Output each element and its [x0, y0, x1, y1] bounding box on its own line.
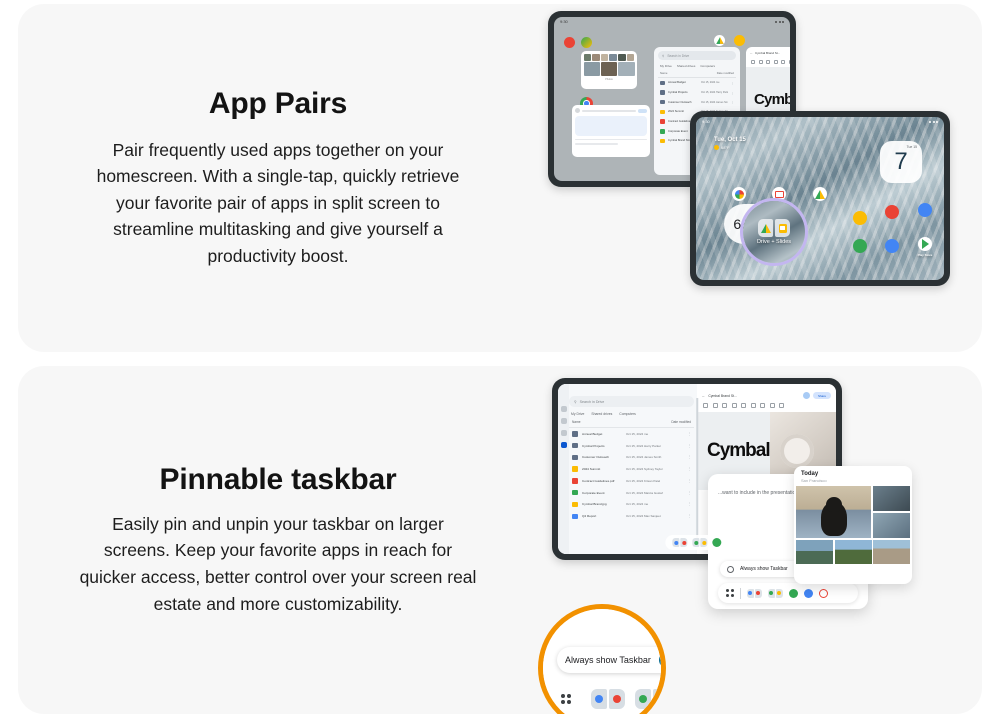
app-pairs-text-column: App Pairs Pair frequently used apps toge…	[18, 4, 538, 352]
file-name: Annual Budget	[668, 81, 698, 84]
table-row[interactable]: Annual BudgetOct 15, 2024 me⋮	[658, 78, 736, 88]
column-date-modified[interactable]: Date modified	[671, 420, 691, 424]
table-row[interactable]: Cymbal ProjectsOct 15, 2024 Harry Parker…	[658, 88, 736, 98]
sheets-icon[interactable]	[853, 239, 867, 253]
column-name[interactable]: Name	[660, 71, 667, 75]
file-date-modified: Oct 15, 2024 Harry Parker	[626, 444, 684, 448]
redo-icon[interactable]	[759, 60, 763, 64]
more-options-icon[interactable]: ⋮	[688, 514, 691, 518]
home-icon[interactable]	[561, 406, 567, 412]
undo-icon[interactable]	[703, 403, 708, 408]
file-type-icon	[660, 110, 665, 115]
file-date-modified: Oct 15, 2024 me	[701, 81, 728, 84]
drive-icon[interactable]	[713, 538, 722, 547]
taskbar-media: ⚲ Search in Drive My Drive Shared drives…	[538, 366, 982, 714]
chat-line	[575, 143, 618, 145]
drive-pane: ⚲ Search in Drive My Drive Shared drives…	[558, 384, 697, 554]
starred-icon[interactable]	[561, 418, 567, 424]
back-arrow-icon[interactable]: ←	[750, 51, 753, 55]
photo-thumbnail[interactable]	[835, 540, 872, 564]
file-name: Q4 Report	[582, 514, 622, 518]
drive-icon[interactable]	[714, 35, 725, 46]
drive-column-headers: Name Date modified	[569, 420, 694, 428]
document-format-tools	[697, 401, 836, 412]
search-icon: ⚲	[662, 54, 664, 58]
shared-icon[interactable]	[561, 430, 567, 436]
app-pair-tile[interactable]	[758, 219, 790, 237]
fold-hinge	[696, 398, 698, 541]
pair-half-slides[interactable]	[653, 689, 666, 709]
drive-search-input[interactable]: ⚲ Search in Drive	[658, 51, 736, 60]
link-icon[interactable]	[789, 60, 791, 64]
pair-half-docs[interactable]	[672, 538, 679, 547]
more-options-icon[interactable]: ⋮	[731, 91, 734, 95]
file-type-icon	[572, 443, 578, 448]
slide-brand-text: Cymbal	[707, 440, 770, 462]
app-pair-magnifier: Drive + Slides	[740, 198, 808, 266]
drive-icon[interactable]	[789, 589, 798, 598]
file-type-icon	[572, 431, 578, 436]
more-options-icon[interactable]: ⋮	[688, 491, 691, 495]
drive-search-input[interactable]: ⚲ Search in Drive	[569, 396, 694, 407]
all-apps-icon[interactable]	[561, 694, 571, 704]
share-button[interactable]: Share	[813, 392, 831, 399]
document-title[interactable]: Cymbal Brand St...	[708, 394, 800, 398]
tab-my-drive[interactable]: My Drive	[571, 412, 584, 416]
avatar	[803, 392, 810, 399]
file-type-icon	[660, 81, 665, 86]
redo-icon[interactable]	[713, 403, 718, 408]
photos-grid	[794, 486, 912, 566]
table-row[interactable]: 2024 SummitOct 15, 2024 Sydney Taylor⋮	[569, 463, 694, 475]
file-date-modified: Oct 15, 2024 Max Sanjeet	[626, 514, 684, 518]
pair-half-drive[interactable]	[635, 689, 651, 709]
photo-thumb-row	[584, 54, 635, 61]
status-indicators	[929, 121, 938, 123]
taskbar-app-pair-docs-meet[interactable]	[591, 689, 625, 709]
chat-bubble	[575, 116, 647, 136]
divider	[740, 588, 741, 599]
chat-line	[575, 139, 647, 141]
magnified-taskbar[interactable]	[543, 689, 661, 709]
app-pairs-title: App Pairs	[209, 87, 347, 121]
sun-icon	[714, 145, 719, 150]
table-row[interactable]: Annual BudgetOct 15, 2024 me⋮	[569, 428, 694, 440]
taskbar-text-column: Pinnable taskbar Easily pin and unpin yo…	[18, 366, 538, 714]
taskbar-app-pair-drive-slides[interactable]	[635, 689, 666, 709]
photos-icon[interactable]	[732, 187, 746, 201]
slides-toolbar: ← Cymbal Brand St... Share	[746, 47, 790, 59]
always-show-taskbar-chip[interactable]: Always show Taskbar ✓	[557, 647, 666, 673]
file-type-icon	[572, 466, 578, 471]
clock-widget-digit: 7	[894, 150, 907, 174]
back-arrow-icon[interactable]: ←	[702, 394, 705, 398]
more-options-icon[interactable]: ⋮	[688, 432, 691, 436]
photos-icon[interactable]	[819, 589, 828, 598]
pair-half-docs[interactable]	[591, 689, 607, 709]
crop-icon[interactable]	[766, 60, 770, 64]
chat-title	[582, 110, 636, 112]
app-pair-label: Drive + Slides	[743, 239, 805, 245]
status-indicators	[775, 21, 784, 23]
text-box-icon[interactable]	[732, 403, 737, 408]
photos-panel-title: Today	[801, 471, 905, 477]
file-type-icon	[572, 490, 578, 495]
always-show-taskbar-toggle[interactable]: ✓	[659, 652, 666, 668]
recents-photos-card[interactable]: Photos	[581, 51, 637, 89]
column-date-modified[interactable]: Date modified	[717, 71, 734, 75]
recents-chat-card[interactable]	[572, 105, 650, 157]
clock-widget-label: Tue 15	[907, 145, 917, 149]
docs-icon[interactable]	[885, 239, 899, 253]
table-row[interactable]: Q4 ReportOct 15, 2024 Max Sanjeet⋮	[569, 510, 694, 522]
link-icon[interactable]	[751, 403, 756, 408]
more-options-icon[interactable]: ⋮	[688, 502, 691, 506]
more-options-icon[interactable]: ⋮	[731, 81, 734, 85]
chat-header	[575, 108, 647, 113]
file-type-icon	[660, 139, 665, 144]
card-app-pairs: App Pairs Pair frequently used apps toge…	[18, 4, 982, 352]
pen-icon[interactable]	[760, 403, 765, 408]
chrome-icon[interactable]	[804, 589, 813, 598]
photo-thumbnail-column	[873, 486, 911, 538]
app-pair-half-slides[interactable]	[775, 219, 790, 237]
table-row[interactable]: Cymbal ProjectsOct 15, 2024 Harry Parker…	[569, 440, 694, 452]
image-icon[interactable]	[781, 60, 785, 64]
meet-icon[interactable]	[885, 205, 899, 219]
slides-icon[interactable]	[734, 35, 745, 46]
photos-panel-subtitle: San Francisco	[801, 478, 905, 483]
more-options-icon[interactable]: ⋮	[688, 467, 691, 471]
pinnable-taskbar-body: Easily pin and unpin your taskbar on lar…	[78, 511, 478, 617]
crop-icon[interactable]	[722, 403, 727, 408]
photos-caption: Photos	[584, 78, 635, 81]
slide-brand-text: Cymbal	[754, 91, 790, 108]
file-name: Customer Outreach	[668, 101, 698, 104]
photo-thumbnail[interactable]	[873, 540, 910, 564]
photo-thumbnail[interactable]	[873, 486, 911, 511]
panel-taskbar[interactable]	[718, 583, 858, 603]
always-show-taskbar-label: Always show Taskbar	[740, 566, 788, 572]
drive-tabs: My Drive Shared drives Computers	[660, 64, 734, 68]
feature-cards-page: App Pairs Pair frequently used apps toge…	[0, 0, 1000, 718]
chrome-icon[interactable]	[918, 203, 932, 217]
more-options-icon[interactable]: ⋮	[688, 444, 691, 448]
table-row[interactable]: Customer OutreachOct 15, 2024 James Smit…	[569, 452, 694, 464]
tab-shared-drives[interactable]: Shared drives	[591, 412, 612, 416]
table-row[interactable]: Cymbal Brand.jpgOct 15, 2024 me⋮	[569, 499, 694, 511]
pinnable-taskbar-title: Pinnable taskbar	[160, 463, 397, 497]
comment-icon[interactable]	[779, 403, 784, 408]
pair-half-drive[interactable]	[693, 538, 700, 547]
undo-icon[interactable]	[751, 60, 755, 64]
file-name: Cymbal Projects	[582, 444, 622, 448]
taskbar-app-pair-drive-slides[interactable]	[693, 538, 708, 547]
play-store-label: Play Store	[918, 253, 933, 257]
date-widget[interactable]: Tue, Oct 15 68°F	[714, 137, 746, 150]
more-options-icon[interactable]: ⋮	[688, 479, 691, 483]
photo-thumb-row	[584, 62, 635, 76]
more-options-icon[interactable]: ⋮	[731, 100, 734, 104]
clock-widget[interactable]: Tue 15 7	[880, 141, 922, 183]
file-date-modified: Oct 15, 2024 James Smith	[701, 101, 728, 104]
taskbar-app-pair-1[interactable]	[747, 589, 762, 598]
pair-half-meet[interactable]	[609, 689, 625, 709]
status-time: 9:30	[702, 119, 710, 124]
file-name: Corporate Event	[582, 491, 622, 495]
taskbar[interactable]	[665, 535, 728, 550]
drive-icon[interactable]	[813, 187, 827, 201]
file-type-icon	[660, 90, 665, 95]
drive-nav-rail	[558, 384, 569, 554]
file-name: Contract Guidelines.pdf	[582, 479, 622, 483]
file-name: Cymbal Projects	[668, 91, 698, 94]
file-name: Annual Budget	[582, 432, 622, 436]
document-toolbar: ← Cymbal Brand St... Share	[697, 384, 836, 401]
keep-icon[interactable]	[853, 211, 867, 225]
eye-icon	[727, 566, 734, 573]
taskbar-app-pair-2[interactable]	[768, 589, 783, 598]
file-date-modified: Oct 15, 2024 me	[626, 432, 684, 436]
slides-format-tools	[746, 59, 790, 67]
drive-column-headers: Name Date modified	[658, 71, 736, 78]
file-type-icon	[572, 455, 578, 460]
file-name: Cymbal Brand.jpg	[582, 502, 622, 506]
card-pinnable-taskbar: Pinnable taskbar Easily pin and unpin yo…	[18, 366, 982, 714]
status-bar: 9:30	[696, 117, 944, 126]
taskbar-app-pair-docs-meet[interactable]	[672, 538, 687, 547]
more-options-icon[interactable]: ⋮	[688, 455, 691, 459]
photos-panel[interactable]: Today San Francisco	[794, 466, 912, 584]
search-icon: ⚲	[574, 400, 577, 404]
drive-file-list: Annual BudgetOct 15, 2024 me⋮Cymbal Proj…	[569, 428, 694, 522]
tablet-homescreen-device: 9:30 Tue, Oct 15 68°F Tue 15	[690, 111, 950, 286]
tab-my-drive[interactable]: My Drive	[660, 64, 672, 68]
drive-tabs: My Drive Shared drives Computers	[571, 412, 694, 416]
slides-document-title[interactable]: Cymbal Brand St...	[755, 51, 790, 55]
file-date-modified: Oct 15, 2024 Sydney Taylor	[626, 467, 684, 471]
dog-photo-subject	[821, 502, 847, 536]
file-type-icon	[572, 502, 578, 507]
file-name: Customer Outreach	[582, 455, 622, 459]
photo-thumbnail[interactable]	[796, 540, 833, 564]
pair-half-slides[interactable]	[701, 538, 708, 547]
photos-panel-header: Today San Francisco	[794, 466, 912, 486]
app-pairs-body: Pair frequently used apps together on yo…	[78, 137, 478, 270]
shape-icon[interactable]	[770, 403, 775, 408]
file-type-icon	[660, 129, 665, 134]
file-date-modified: Oct 15, 2024 me	[626, 502, 684, 506]
avatar	[575, 108, 580, 113]
tab-computers[interactable]: Computers	[700, 64, 715, 68]
date-widget-temp: 68°F	[714, 145, 746, 150]
file-date-modified: Oct 15, 2024 Harry Parker	[701, 91, 728, 94]
photo-thumbnail[interactable]	[873, 513, 911, 538]
file-type-icon	[660, 119, 665, 124]
files-icon[interactable]	[561, 442, 567, 448]
file-date-modified: Oct 15, 2024 Krisan Patel	[626, 479, 684, 483]
table-row[interactable]: Contract Guidelines.pdfOct 15, 2024 Kris…	[569, 475, 694, 487]
status-time: 9:30	[560, 19, 568, 24]
tablet-homescreen-screen: 9:30 Tue, Oct 15 68°F Tue 15	[696, 117, 944, 280]
table-row[interactable]: Customer OutreachOct 15, 2024 James Smit…	[658, 97, 736, 107]
app-pairs-media: 9:30	[538, 4, 982, 352]
file-name: 2024 Summit	[582, 467, 622, 471]
magnifier-content: Always show Taskbar ✓	[543, 609, 661, 714]
always-show-taskbar-label: Always show Taskbar	[565, 655, 651, 665]
file-date-modified: Oct 15, 2024 Marcia Gustaf	[626, 491, 684, 495]
tab-computers[interactable]: Computers	[619, 412, 636, 416]
drive-search-placeholder: Search in Drive	[580, 400, 605, 404]
file-type-icon	[660, 100, 665, 105]
taskbar-toggle-magnifier: Always show Taskbar ✓	[538, 604, 666, 714]
status-bar: 9:30	[554, 17, 790, 26]
photos-icon[interactable]	[581, 37, 592, 48]
table-row[interactable]: Corporate EventOct 15, 2024 Marcia Gusta…	[569, 487, 694, 499]
app-pair-half-drive[interactable]	[758, 219, 773, 237]
text-box-icon[interactable]	[774, 60, 778, 64]
drive-search-placeholder: Search in Drive	[667, 54, 689, 58]
photo-thumbnail[interactable]	[796, 486, 871, 538]
image-icon[interactable]	[741, 403, 746, 408]
photo-thumbnail-row	[796, 540, 910, 564]
pair-half-meet[interactable]	[681, 538, 688, 547]
play-store-icon[interactable]: Play Store	[918, 237, 932, 251]
file-type-icon	[572, 514, 578, 519]
file-type-icon	[572, 478, 578, 483]
tab-shared-drives[interactable]: Shared drives	[677, 64, 696, 68]
file-name: 2024 Summit	[668, 110, 698, 113]
file-date-modified: Oct 15, 2024 James Smith	[626, 455, 684, 459]
gmail-icon[interactable]	[564, 37, 575, 48]
date-widget-date: Tue, Oct 15	[714, 137, 746, 143]
chat-action-pill[interactable]	[638, 109, 647, 113]
column-name[interactable]: Name	[572, 420, 581, 424]
